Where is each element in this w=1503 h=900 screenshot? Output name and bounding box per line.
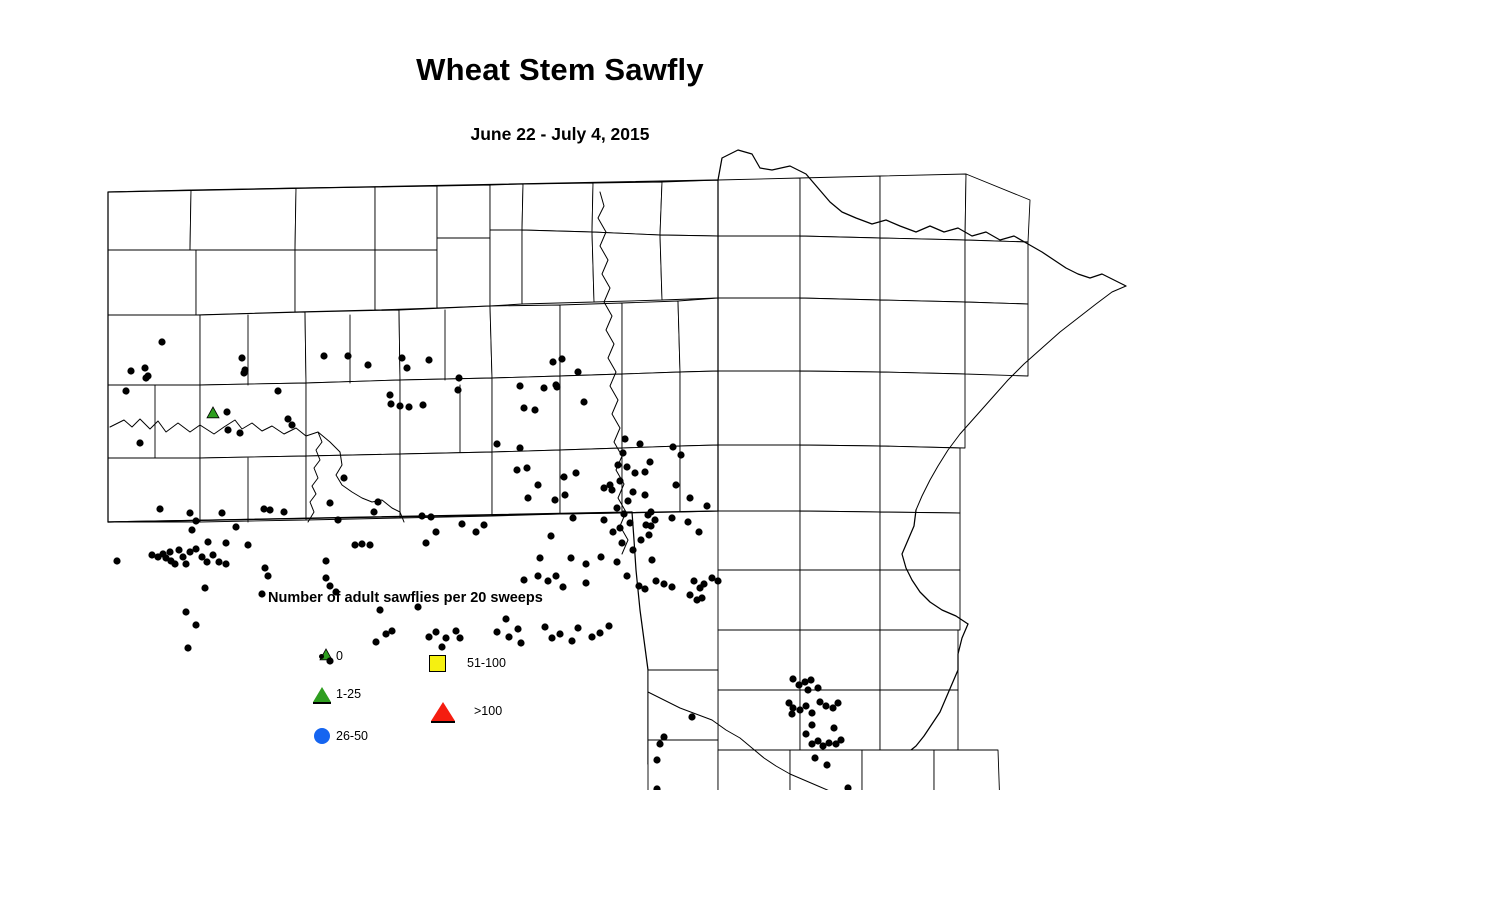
map-point <box>240 369 247 376</box>
map-point <box>516 382 523 389</box>
legend-item-0: 0 <box>310 645 343 667</box>
map-point <box>419 401 426 408</box>
map-point <box>688 713 695 720</box>
map-point <box>830 724 837 731</box>
map-point <box>534 481 541 488</box>
map-point <box>455 374 462 381</box>
map-point <box>609 528 616 535</box>
map-point <box>629 546 636 553</box>
map-point <box>386 391 393 398</box>
map-legend: Number of adult sawflies per 20 sweeps 0… <box>260 590 620 760</box>
map-point <box>672 481 679 488</box>
map-point <box>582 560 589 567</box>
map-point <box>188 526 195 533</box>
map-point <box>232 523 239 530</box>
map-point <box>454 386 461 393</box>
map-point <box>351 541 358 548</box>
map-point <box>814 684 821 691</box>
page-title: Wheat Stem Sawfly <box>0 52 1120 88</box>
map-point <box>127 367 134 374</box>
map-point <box>567 554 574 561</box>
map-point <box>686 591 693 598</box>
red-triangle-icon <box>430 700 456 722</box>
map-point <box>684 518 691 525</box>
map-point <box>418 512 425 519</box>
map-point <box>366 541 373 548</box>
blue-circle-icon <box>310 725 336 747</box>
map-point <box>184 644 191 651</box>
legend-title: Number of adult sawflies per 20 sweeps <box>268 590 543 606</box>
map-point <box>493 440 500 447</box>
map-point <box>280 508 287 515</box>
map-point <box>600 484 607 491</box>
map-point <box>141 364 148 371</box>
map-point <box>432 528 439 535</box>
map-point <box>690 577 697 584</box>
map-point <box>614 461 621 468</box>
map-point <box>834 699 841 706</box>
map-point <box>616 477 623 484</box>
map-point <box>574 368 581 375</box>
map-point <box>398 354 405 361</box>
map-point <box>569 514 576 521</box>
map-point <box>572 469 579 476</box>
map-point <box>802 730 809 737</box>
map-point <box>425 356 432 363</box>
map-point <box>387 400 394 407</box>
map-point <box>660 580 667 587</box>
map-point <box>561 491 568 498</box>
map-point <box>516 444 523 451</box>
map-point <box>223 408 230 415</box>
map-point <box>552 572 559 579</box>
map-point <box>641 585 648 592</box>
map-point <box>641 491 648 498</box>
map-point <box>122 387 129 394</box>
map-point <box>427 513 434 520</box>
map-point <box>660 733 667 740</box>
map-point <box>816 698 823 705</box>
map-point <box>472 528 479 535</box>
legend-item-26-50: 26-50 <box>310 725 368 747</box>
map-point <box>396 402 403 409</box>
legend-label-51-100: 51-100 <box>467 656 506 670</box>
map-point <box>358 540 365 547</box>
map-point <box>825 739 832 746</box>
map-point <box>244 541 251 548</box>
map-point <box>524 494 531 501</box>
map-point <box>222 539 229 546</box>
map-point <box>136 439 143 446</box>
map-point <box>322 557 329 564</box>
map-point <box>192 517 199 524</box>
map-point <box>822 702 829 709</box>
map-point <box>618 539 625 546</box>
map-point <box>403 364 410 371</box>
map-point <box>236 429 243 436</box>
map-point <box>623 572 630 579</box>
legend-item-gt100: >100 <box>430 700 502 722</box>
map-point <box>647 522 654 529</box>
map-point <box>175 546 182 553</box>
map-point <box>552 381 559 388</box>
map-point <box>807 676 814 683</box>
map-point <box>326 499 333 506</box>
map-point <box>653 756 660 763</box>
map-point <box>558 355 565 362</box>
map-point <box>158 338 165 345</box>
map-point <box>192 621 199 628</box>
map-point <box>613 504 620 511</box>
map-point <box>260 505 267 512</box>
map-point <box>113 557 120 564</box>
legend-item-51-100: 51-100 <box>425 652 506 674</box>
map-point <box>238 354 245 361</box>
map-point <box>264 572 271 579</box>
map-point <box>637 536 644 543</box>
map-point <box>480 521 487 528</box>
map-point <box>261 564 268 571</box>
map-point <box>621 435 628 442</box>
map-point <box>203 558 210 565</box>
map-point <box>520 576 527 583</box>
map-point <box>626 519 633 526</box>
map-point <box>322 574 329 581</box>
map-point <box>645 531 652 538</box>
map-point <box>458 520 465 527</box>
map-point <box>344 352 351 359</box>
map-point <box>669 443 676 450</box>
map-point <box>641 468 648 475</box>
map-point <box>629 488 636 495</box>
map-point <box>218 509 225 516</box>
map-point <box>613 558 620 565</box>
map-point <box>686 494 693 501</box>
map-point <box>623 463 630 470</box>
map-point <box>370 508 377 515</box>
map-point <box>656 740 663 747</box>
map-point <box>364 361 371 368</box>
map-point <box>520 404 527 411</box>
map-point <box>646 458 653 465</box>
map-point <box>700 580 707 587</box>
legend-label-26-50: 26-50 <box>336 729 368 743</box>
map-point <box>540 384 547 391</box>
map-point <box>266 506 273 513</box>
green-triangle-icon <box>310 683 336 705</box>
map-point <box>597 553 604 560</box>
map-point <box>582 579 589 586</box>
map-point <box>171 560 178 567</box>
map-point <box>619 449 626 456</box>
map-point <box>600 516 607 523</box>
map-point <box>186 509 193 516</box>
map-point <box>668 583 675 590</box>
map-point <box>156 505 163 512</box>
map-point <box>652 577 659 584</box>
map-point <box>608 486 615 493</box>
sawfly-map-page: Wheat Stem Sawfly June 22 - July 4, 2015 <box>0 0 1503 900</box>
map-point <box>326 582 333 589</box>
map-point <box>823 761 830 768</box>
map-point <box>209 551 216 558</box>
map-point <box>422 539 429 546</box>
map-point <box>802 702 809 709</box>
map-point <box>179 553 186 560</box>
map-point <box>544 577 551 584</box>
map-point <box>192 545 199 552</box>
yellow-square-icon <box>425 652 451 674</box>
map-point <box>560 473 567 480</box>
map-point <box>811 754 818 761</box>
map-point <box>703 502 710 509</box>
map-point <box>374 498 381 505</box>
map-point <box>698 594 705 601</box>
map-point <box>580 398 587 405</box>
legend-label-1-25: 1-25 <box>336 687 361 701</box>
map-point <box>224 426 231 433</box>
map-point <box>215 558 222 565</box>
map-point <box>405 403 412 410</box>
map-point <box>677 451 684 458</box>
map-point <box>513 466 520 473</box>
map-point <box>651 516 658 523</box>
map-point <box>534 572 541 579</box>
map-point <box>204 538 211 545</box>
map-point <box>274 387 281 394</box>
map-point <box>796 706 803 713</box>
map-point <box>288 421 295 428</box>
map-point <box>142 374 149 381</box>
map-point <box>788 710 795 717</box>
map-point <box>636 440 643 447</box>
map-point <box>547 532 554 539</box>
map-point <box>340 474 347 481</box>
map-point <box>714 577 721 584</box>
black-dot-icon <box>310 645 336 667</box>
map-point <box>695 528 702 535</box>
map-point <box>182 608 189 615</box>
map-point <box>523 464 530 471</box>
map-point <box>789 675 796 682</box>
legend-label-gt100: >100 <box>474 704 502 718</box>
legend-item-1-25: 1-25 <box>310 683 361 705</box>
legend-label-0: 0 <box>336 649 343 663</box>
map-point <box>631 469 638 476</box>
map-point <box>647 508 654 515</box>
map-point <box>808 709 815 716</box>
map-point <box>536 554 543 561</box>
map-point <box>808 721 815 728</box>
map-point <box>648 556 655 563</box>
map-point <box>334 516 341 523</box>
map-point <box>624 497 631 504</box>
map-point <box>201 584 208 591</box>
map-point <box>837 736 844 743</box>
map-point <box>182 560 189 567</box>
map-point <box>616 524 623 531</box>
map-point <box>222 560 229 567</box>
map-point <box>549 358 556 365</box>
map-point <box>284 415 291 422</box>
map-point <box>668 514 675 521</box>
map-point <box>551 496 558 503</box>
map-point <box>620 510 627 517</box>
map-point <box>166 548 173 555</box>
map-point <box>531 406 538 413</box>
map-point <box>320 352 327 359</box>
map-point <box>804 686 811 693</box>
map-point <box>789 704 796 711</box>
